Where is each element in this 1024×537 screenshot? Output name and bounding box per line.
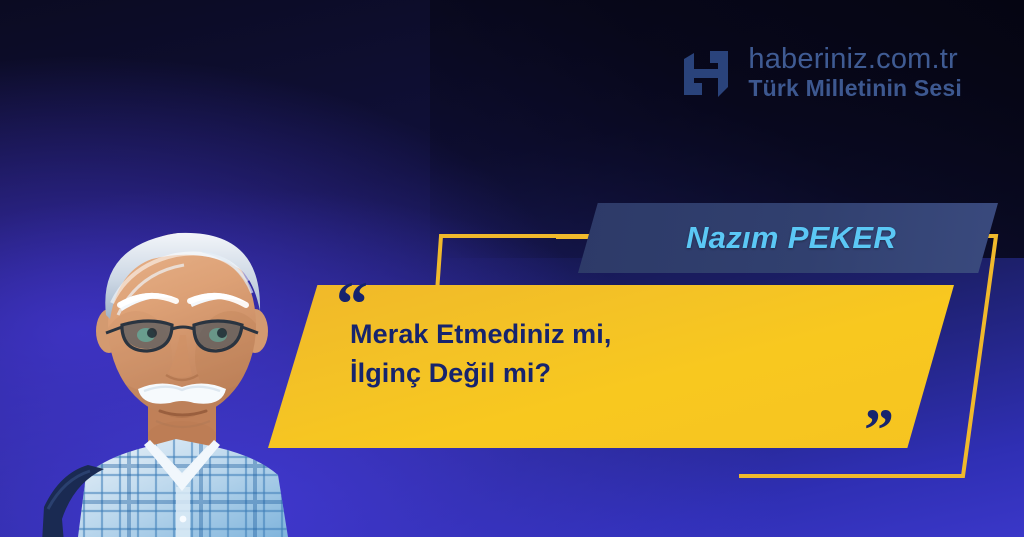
brand-block[interactable]: haberiniz.com.tr Türk Milletinin Sesi xyxy=(680,44,962,103)
stripe-pink-thin xyxy=(0,0,75,114)
quote-line-1: Merak Etmediniz mi, xyxy=(350,319,611,349)
author-name: Nazım PEKER xyxy=(680,220,896,256)
brand-slogan: Türk Milletinin Sesi xyxy=(748,75,962,103)
quote-line-2: İlginç Değil mi? xyxy=(350,354,870,393)
quote-close-mark: ” xyxy=(864,400,892,460)
banner-canvas: Nazım PEKER “ Merak Etmediniz mi, İlginç… xyxy=(0,0,1024,537)
author-portrait xyxy=(26,207,336,537)
brand-name: haberiniz.com.tr xyxy=(748,44,962,75)
haberiniz-h-logo-icon xyxy=(680,45,732,101)
stripe-yellow-wide xyxy=(0,0,2,60)
author-name-banner: Nazım PEKER xyxy=(578,203,998,273)
quote-text: Merak Etmediniz mi, İlginç Değil mi? xyxy=(350,315,870,393)
